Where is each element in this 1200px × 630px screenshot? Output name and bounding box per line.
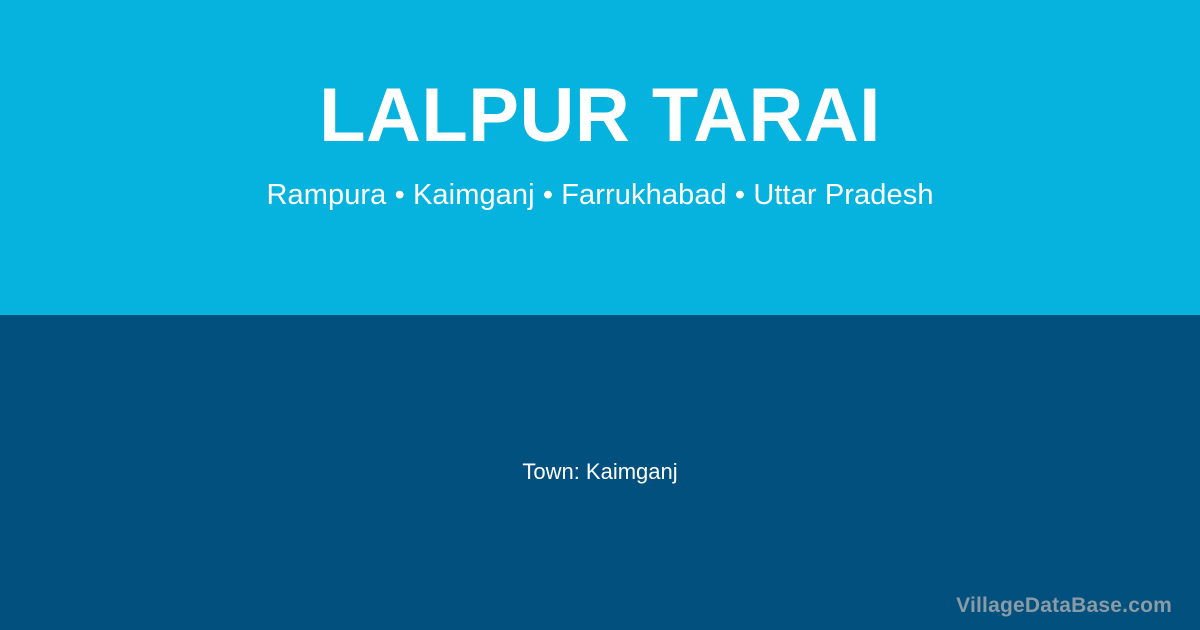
page-title: LALPUR TARAI bbox=[319, 78, 881, 154]
breadcrumb: Rampura • Kaimganj • Farrukhabad • Uttar… bbox=[266, 180, 933, 212]
banner-header-band: LALPUR TARAI Rampura • Kaimganj • Farruk… bbox=[0, 0, 1200, 315]
town-detail-text: Town: Kaimganj bbox=[522, 459, 677, 485]
village-info-banner: LALPUR TARAI Rampura • Kaimganj • Farruk… bbox=[0, 0, 1200, 630]
banner-body-band: Town: Kaimganj VillageDataBase.com bbox=[0, 315, 1200, 630]
site-watermark: VillageDataBase.com bbox=[956, 593, 1172, 618]
